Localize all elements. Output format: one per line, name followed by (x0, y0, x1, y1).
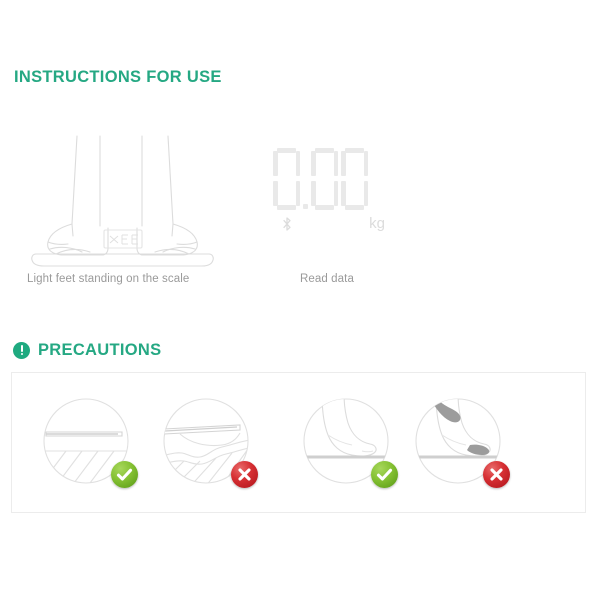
check-icon (111, 461, 138, 488)
precaution-item-foot-with-sock (412, 395, 508, 491)
lcd-digit (311, 148, 338, 210)
exclamation-circle-icon (13, 342, 30, 359)
status-badge-ok (111, 461, 138, 488)
precaution-item-hard-flat-surface (40, 395, 136, 491)
check-icon (371, 461, 398, 488)
precautions-panel (11, 372, 586, 513)
lcd-decimal-point (303, 204, 308, 209)
instruction-step-caption: Light feet standing on the scale (27, 273, 189, 285)
precaution-item-bare-foot (300, 395, 396, 491)
lcd-unit-label: kg (369, 216, 385, 231)
instruction-step-caption: Read data (300, 273, 354, 285)
cross-icon (483, 461, 510, 488)
precautions-title: PRECAUTIONS (38, 341, 161, 360)
bluetooth-icon (282, 216, 292, 235)
precaution-item-soft-uneven-surface (160, 395, 256, 491)
precautions-header: PRECAUTIONS (13, 341, 161, 360)
status-badge-no (483, 461, 510, 488)
status-badge-no (231, 461, 258, 488)
instruction-step-read-data: kg Read data (255, 118, 430, 298)
lcd-digits (273, 148, 368, 210)
lcd-display: kg (273, 148, 391, 240)
instructions-title: INSTRUCTIONS FOR USE (14, 68, 222, 87)
instruction-sheet: INSTRUCTIONS FOR USE (0, 0, 600, 600)
lcd-digit (273, 148, 300, 210)
status-badge-ok (371, 461, 398, 488)
instruction-step-light-feet: Light feet standing on the scale (20, 118, 240, 298)
lcd-digit (341, 148, 368, 210)
bluetooth-glyph (282, 216, 292, 232)
cross-icon (231, 461, 258, 488)
legs-on-scale-illustration (20, 118, 240, 268)
